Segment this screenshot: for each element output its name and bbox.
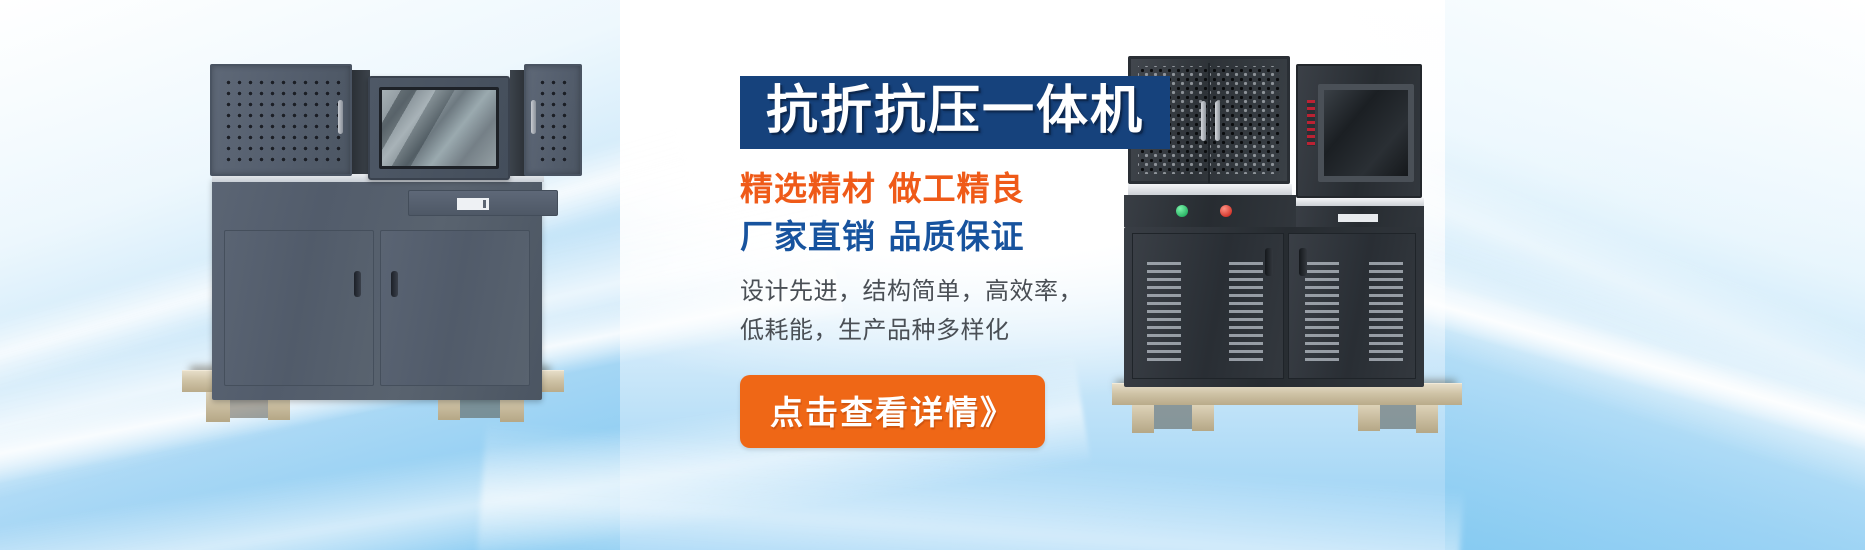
- banner-title: 抗折抗压一体机: [766, 85, 1144, 137]
- description-line-2: 低耗能，生产品种多样化: [740, 311, 1300, 351]
- right-lower-door-2: [1288, 233, 1416, 379]
- headline-orange: 精选精材 做工精良: [740, 171, 1300, 207]
- right-monitor-side-leds: [1307, 100, 1315, 146]
- left-machine-body: [212, 178, 542, 400]
- left-monitor: [368, 76, 510, 180]
- right-base-label: [1338, 214, 1378, 222]
- left-upper-cabinet-a: [210, 64, 352, 176]
- right-vent-slots-2b: [1369, 262, 1403, 366]
- right-pallet-leg-3: [1358, 405, 1380, 431]
- left-cabinet-door-1: [224, 230, 374, 386]
- promotional-banner: 抗折抗压一体机 精选精材 做工精良 厂家直销 品质保证 设计先进，结构简单，高效…: [0, 0, 1865, 550]
- right-lower-handle-2: [1299, 248, 1307, 276]
- right-monitor-screen: [1318, 84, 1414, 182]
- left-perforation-pattern-b: [535, 75, 571, 165]
- right-pallet-leg-4: [1416, 405, 1438, 433]
- title-banner: 抗折抗压一体机: [740, 76, 1170, 149]
- left-upper-cabinet-b: [524, 64, 582, 176]
- left-cabinet-door-2: [380, 230, 530, 386]
- view-details-button[interactable]: 点击查看详情》: [740, 375, 1045, 448]
- right-monitor-housing: [1296, 64, 1422, 198]
- right-monitor-white-strip: [1296, 198, 1424, 206]
- background-right-wash: [1445, 0, 1865, 550]
- right-vent-slots-2a: [1305, 262, 1339, 366]
- view-details-button-label: 点击查看详情》: [770, 386, 1015, 434]
- left-door-handle-1: [354, 271, 361, 297]
- left-product-image: [160, 48, 580, 428]
- left-perforation-pattern-a: [221, 75, 341, 165]
- banner-text-column: 抗折抗压一体机 精选精材 做工精良 厂家直销 品质保证 设计先进，结构简单，高效…: [740, 76, 1300, 448]
- right-pallet-gap-b: [1378, 405, 1418, 429]
- left-cabinet-handle-a: [338, 100, 343, 134]
- description-line-1: 设计先进，结构简单，高效率，: [740, 272, 1300, 312]
- left-door-handle-2: [391, 271, 398, 297]
- left-monitor-screen: [379, 87, 499, 169]
- headline-blue: 厂家直销 品质保证: [740, 219, 1300, 255]
- left-cabinet-handle-b: [531, 100, 536, 134]
- left-drawer-label: [457, 198, 489, 210]
- left-control-drawer: [408, 190, 558, 216]
